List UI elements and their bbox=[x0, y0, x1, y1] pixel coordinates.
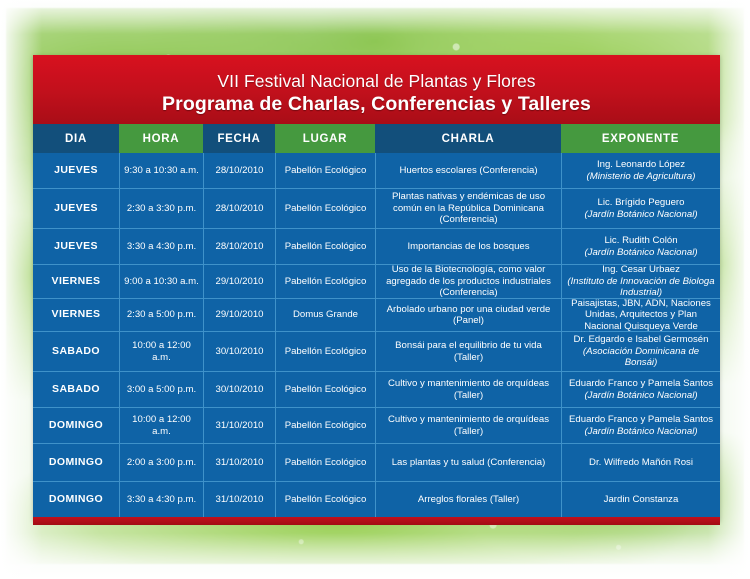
exponente-name: Eduardo Franco y Pamela Santos bbox=[569, 378, 713, 389]
exponente-affiliation: (Instituto de Innovación de Biologa Indu… bbox=[566, 276, 716, 299]
cell-fecha: 28/10/2010 bbox=[203, 153, 275, 188]
poster-canvas: VII Festival Nacional de Plantas y Flore… bbox=[0, 0, 750, 579]
program-subtitle: Programa de Charlas, Conferencias y Tall… bbox=[33, 92, 720, 116]
table-body: JUEVES9:30 a 10:30 a.m.28/10/2010Pabelló… bbox=[33, 153, 720, 517]
cell-dia: VIERNES bbox=[33, 265, 119, 298]
cell-charla: Huertos escolares (Conferencia) bbox=[375, 153, 561, 188]
cell-exponente: Lic. Brígido Peguero(Jardín Botánico Nac… bbox=[561, 189, 720, 228]
exponente-name: Ing. Cesar Urbaez bbox=[602, 264, 680, 275]
cell-dia: VIERNES bbox=[33, 299, 119, 331]
table-row: SABADO10:00 a 12:00 a.m.30/10/2010Pabell… bbox=[33, 331, 720, 371]
cell-hora: 2:00 a 3:00 p.m. bbox=[119, 444, 203, 481]
cell-hora: 3:30 a 4:30 p.m. bbox=[119, 482, 203, 517]
table-row: DOMINGO10:00 a 12:00 a.m.31/10/2010Pabel… bbox=[33, 407, 720, 443]
cell-charla: Importancias de los bosques bbox=[375, 229, 561, 264]
table-row: DOMINGO2:00 a 3:00 p.m.31/10/2010Pabelló… bbox=[33, 443, 720, 481]
cell-dia: JUEVES bbox=[33, 189, 119, 228]
cell-fecha: 31/10/2010 bbox=[203, 482, 275, 517]
program-board: VII Festival Nacional de Plantas y Flore… bbox=[33, 55, 720, 521]
cell-fecha: 31/10/2010 bbox=[203, 408, 275, 443]
cell-lugar: Pabellón Ecológico bbox=[275, 332, 375, 371]
cell-hora: 9:00 a 10:30 a.m. bbox=[119, 265, 203, 298]
cell-exponente: Ing. Leonardo López(Ministerio de Agricu… bbox=[561, 153, 720, 188]
cell-lugar: Pabellón Ecológico bbox=[275, 265, 375, 298]
table-row: JUEVES2:30 a 3:30 p.m.28/10/2010Pabellón… bbox=[33, 188, 720, 228]
cell-exponente: Lic. Rudith Colón(Jardín Botánico Nacion… bbox=[561, 229, 720, 264]
exponente-affiliation: (Jardín Botánico Nacional) bbox=[584, 209, 697, 221]
exponente-name: Lic. Rudith Colón bbox=[604, 235, 677, 246]
exponente-name: Eduardo Franco y Pamela Santos bbox=[569, 414, 713, 425]
column-header-hora: HORA bbox=[119, 124, 203, 153]
cell-lugar: Pabellón Ecológico bbox=[275, 189, 375, 228]
exponente-affiliation: (Asociación Dominicana de Bonsái) bbox=[566, 346, 716, 369]
column-header-exponente: EXPONENTE bbox=[561, 124, 720, 153]
cell-charla: Cultivo y mantenimiento de orquídeas (Ta… bbox=[375, 372, 561, 407]
cell-exponente: Dr. Wilfredo Mañón Rosi bbox=[561, 444, 720, 481]
festival-title: VII Festival Nacional de Plantas y Flore… bbox=[33, 57, 720, 92]
cell-exponente: Dr. Edgardo e Isabel Germosén(Asociación… bbox=[561, 332, 720, 371]
cell-hora: 3:00 a 5:00 p.m. bbox=[119, 372, 203, 407]
cell-fecha: 30/10/2010 bbox=[203, 332, 275, 371]
exponente-affiliation: (Ministerio de Agricultura) bbox=[587, 171, 696, 183]
cell-fecha: 29/10/2010 bbox=[203, 299, 275, 331]
exponente-affiliation: (Jardín Botánico Nacional) bbox=[569, 390, 713, 402]
table-row: SABADO3:00 a 5:00 p.m.30/10/2010Pabellón… bbox=[33, 371, 720, 407]
cell-hora: 2:30 a 5:00 p.m. bbox=[119, 299, 203, 331]
exponente-name: Dr. Edgardo e Isabel Germosén bbox=[574, 334, 709, 345]
cell-charla: Arbolado urbano por una ciudad verde (Pa… bbox=[375, 299, 561, 331]
column-header-dia: DIA bbox=[33, 124, 119, 153]
exponente-name: Ing. Leonardo López bbox=[597, 159, 685, 170]
exponente-name: Lic. Brígido Peguero bbox=[598, 197, 685, 208]
cell-lugar: Pabellón Ecológico bbox=[275, 372, 375, 407]
cell-lugar: Domus Grande bbox=[275, 299, 375, 331]
red-footer-bar bbox=[33, 517, 720, 525]
cell-lugar: Pabellón Ecológico bbox=[275, 229, 375, 264]
cell-charla: Uso de la Biotecnología, como valor agre… bbox=[375, 265, 561, 298]
cell-exponente: Ing. Cesar Urbaez(Instituto de Innovació… bbox=[561, 265, 720, 298]
cell-fecha: 28/10/2010 bbox=[203, 229, 275, 264]
cell-charla: Bonsái para el equilibrio de tu vida (Ta… bbox=[375, 332, 561, 371]
cell-fecha: 28/10/2010 bbox=[203, 189, 275, 228]
cell-fecha: 29/10/2010 bbox=[203, 265, 275, 298]
cell-dia: JUEVES bbox=[33, 153, 119, 188]
cell-exponente: Paisajistas, JBN, ADN, Naciones Unidas, … bbox=[561, 299, 720, 331]
exponente-affiliation: (Jardín Botánico Nacional) bbox=[584, 247, 697, 259]
cell-hora: 10:00 a 12:00 a.m. bbox=[119, 408, 203, 443]
cell-hora: 9:30 a 10:30 a.m. bbox=[119, 153, 203, 188]
table-header-row: DIA HORA FECHA LUGAR CHARLA EXPONENTE bbox=[33, 124, 720, 153]
title-banner: VII Festival Nacional de Plantas y Flore… bbox=[33, 55, 720, 124]
cell-dia: DOMINGO bbox=[33, 444, 119, 481]
cell-dia: DOMINGO bbox=[33, 482, 119, 517]
cell-exponente: Eduardo Franco y Pamela Santos(Jardín Bo… bbox=[561, 408, 720, 443]
exponente-affiliation: (Jardín Botánico Nacional) bbox=[569, 426, 713, 438]
cell-dia: DOMINGO bbox=[33, 408, 119, 443]
cell-hora: 10:00 a 12:00 a.m. bbox=[119, 332, 203, 371]
table-row: DOMINGO3:30 a 4:30 p.m.31/10/2010Pabelló… bbox=[33, 481, 720, 517]
table-row: JUEVES3:30 a 4:30 p.m.28/10/2010Pabellón… bbox=[33, 228, 720, 264]
cell-exponente: Eduardo Franco y Pamela Santos(Jardín Bo… bbox=[561, 372, 720, 407]
cell-lugar: Pabellón Ecológico bbox=[275, 482, 375, 517]
cell-lugar: Pabellón Ecológico bbox=[275, 444, 375, 481]
cell-lugar: Pabellón Ecológico bbox=[275, 408, 375, 443]
cell-lugar: Pabellón Ecológico bbox=[275, 153, 375, 188]
cell-exponente: Jardin Constanza bbox=[561, 482, 720, 517]
column-header-charla: CHARLA bbox=[375, 124, 561, 153]
table-row: JUEVES9:30 a 10:30 a.m.28/10/2010Pabelló… bbox=[33, 153, 720, 188]
column-header-lugar: LUGAR bbox=[275, 124, 375, 153]
cell-fecha: 30/10/2010 bbox=[203, 372, 275, 407]
cell-hora: 3:30 a 4:30 p.m. bbox=[119, 229, 203, 264]
table-row: VIERNES9:00 a 10:30 a.m.29/10/2010Pabell… bbox=[33, 264, 720, 298]
table-row: VIERNES2:30 a 5:00 p.m.29/10/2010Domus G… bbox=[33, 298, 720, 331]
cell-dia: JUEVES bbox=[33, 229, 119, 264]
cell-charla: Arreglos florales (Taller) bbox=[375, 482, 561, 517]
column-header-fecha: FECHA bbox=[203, 124, 275, 153]
cell-fecha: 31/10/2010 bbox=[203, 444, 275, 481]
cell-dia: SABADO bbox=[33, 332, 119, 371]
cell-charla: Las plantas y tu salud (Conferencia) bbox=[375, 444, 561, 481]
cell-charla: Plantas nativas y endémicas de uso común… bbox=[375, 189, 561, 228]
cell-charla: Cultivo y mantenimiento de orquídeas (Ta… bbox=[375, 408, 561, 443]
cell-dia: SABADO bbox=[33, 372, 119, 407]
cell-hora: 2:30 a 3:30 p.m. bbox=[119, 189, 203, 228]
